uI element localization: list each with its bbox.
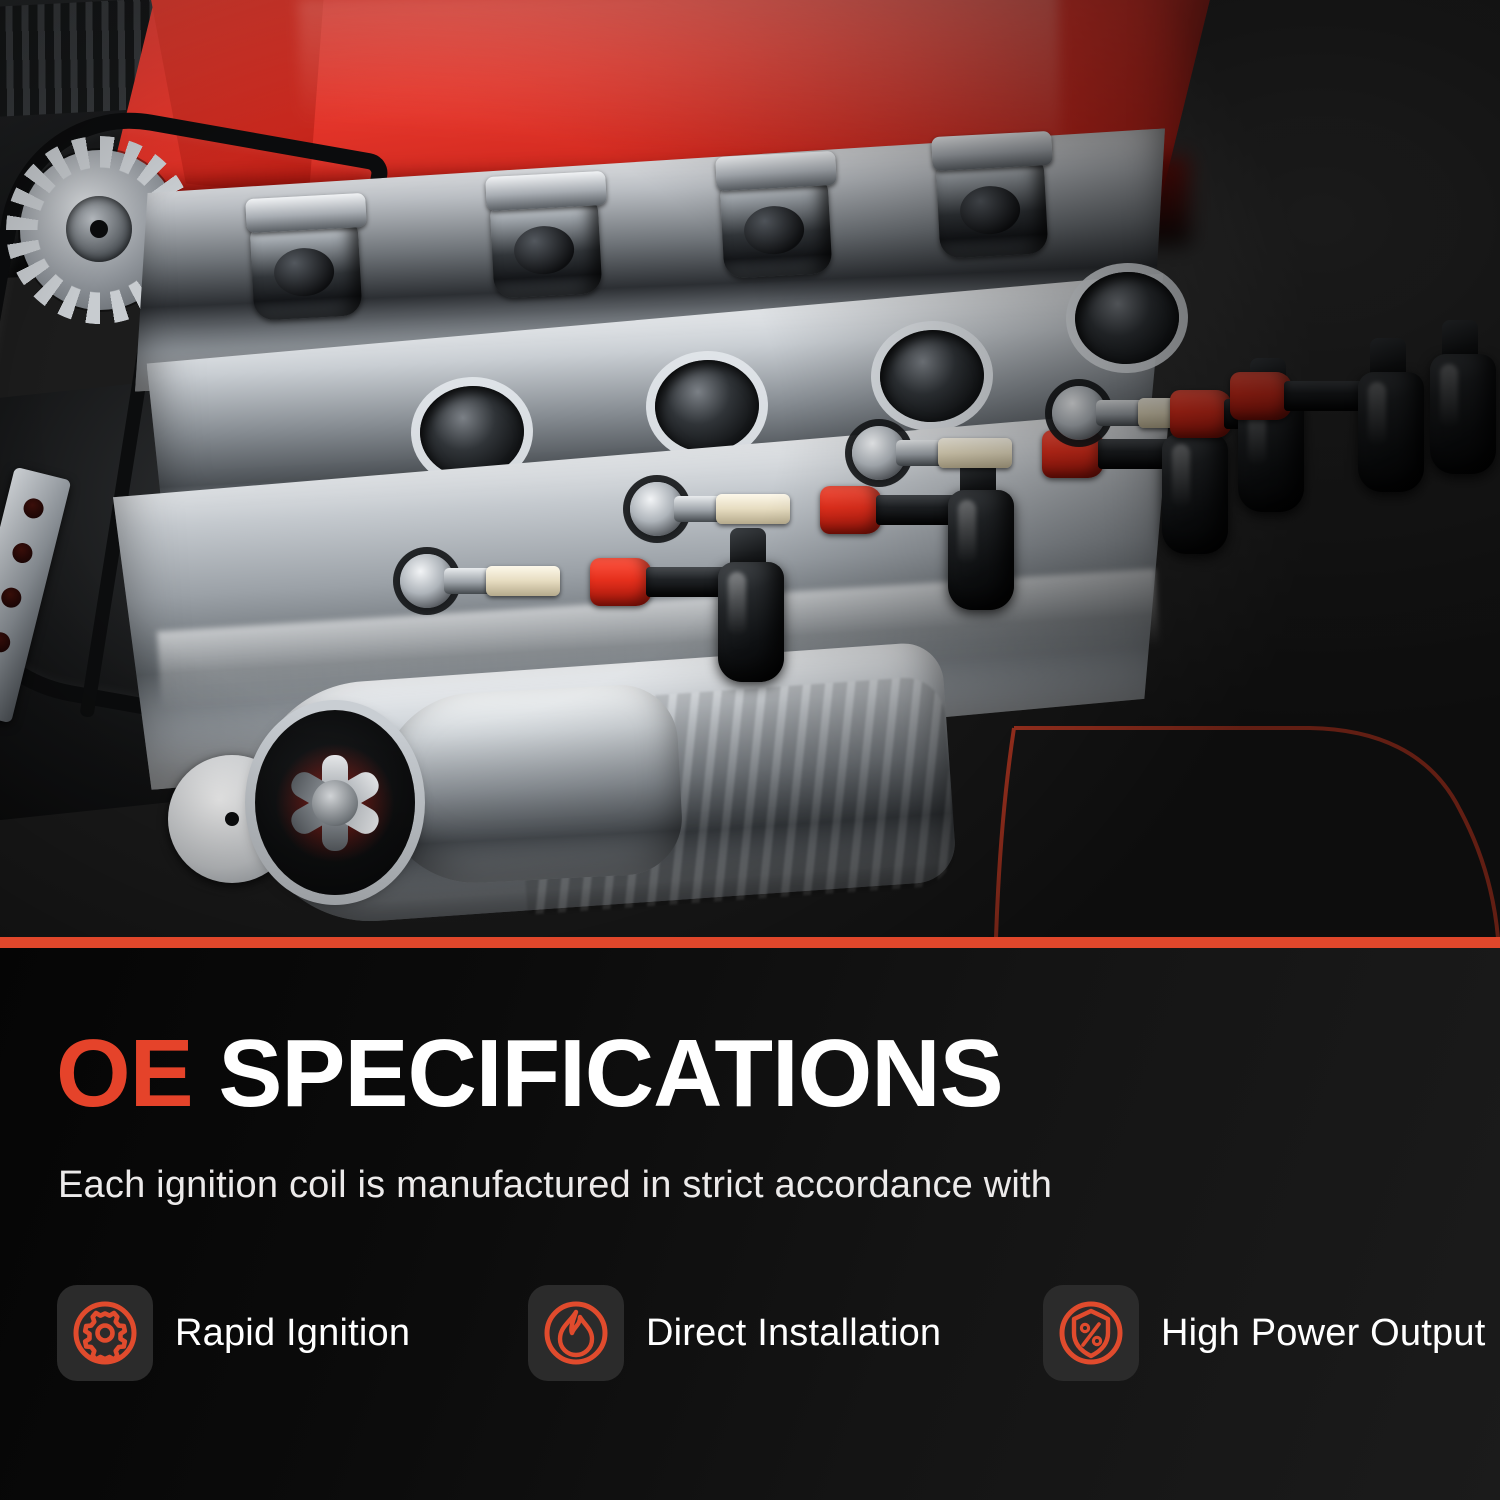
feature-item-high-power-output: High Power Output (1043, 1283, 1485, 1383)
cam-bearing-cap (715, 151, 837, 191)
cam-bearing-cap (485, 171, 607, 211)
orange-divider-bar (0, 937, 1500, 948)
spark-plug-ceramic-insulator (486, 566, 560, 596)
feature-label: Rapid Ignition (175, 1312, 410, 1355)
page-title: OE SPECIFICATIONS (56, 1026, 1003, 1122)
coil-body (1430, 354, 1496, 474)
spark-plug-ceramic-insulator (938, 438, 1012, 468)
cam-bearing-cap (931, 131, 1053, 171)
feature-item-rapid-ignition: Rapid Ignition (57, 1283, 410, 1383)
feature-item-direct-installation: Direct Installation (528, 1283, 941, 1383)
coil-red-boot (1230, 372, 1292, 420)
coil-red-boot (1170, 390, 1232, 438)
timing-gear-hub (66, 196, 132, 262)
coil-body (1358, 372, 1424, 492)
cam-bearing-cap (245, 193, 367, 233)
cam-lobe (720, 177, 833, 279)
feature-label: High Power Output (1161, 1312, 1485, 1355)
feature-icon-tile (528, 1285, 624, 1381)
headline-accent-oe: OE (56, 1020, 193, 1127)
cam-lobe (250, 219, 363, 321)
product-marketing-image: OE SPECIFICATIONS Each ignition coil is … (0, 0, 1500, 1500)
chrome-exhaust-tip (375, 682, 685, 887)
pulley-hub (312, 780, 358, 826)
gear-icon (69, 1297, 141, 1369)
shield-percent-icon (1055, 1297, 1127, 1369)
spark-plug-ceramic-insulator (716, 494, 790, 524)
engine-hero-image (0, 0, 1500, 938)
cam-lobe (490, 197, 603, 299)
feature-icon-tile (57, 1285, 153, 1381)
page-subtitle: Each ignition coil is manufactured in st… (58, 1164, 1052, 1207)
coil-red-boot (590, 558, 652, 606)
flame-icon (540, 1297, 612, 1369)
coil-body (718, 562, 784, 682)
coil-body (948, 490, 1014, 610)
coil-red-boot (820, 486, 882, 534)
feature-icon-tile (1043, 1285, 1139, 1381)
chrome-spoked-pulley (255, 710, 415, 895)
feature-list: Rapid Ignition Direct Installation (0, 1283, 1500, 1383)
cam-lobe (936, 157, 1049, 259)
headline-rest: SPECIFICATIONS (193, 1020, 1003, 1127)
coil-body (1162, 434, 1228, 554)
feature-label: Direct Installation (646, 1312, 941, 1355)
